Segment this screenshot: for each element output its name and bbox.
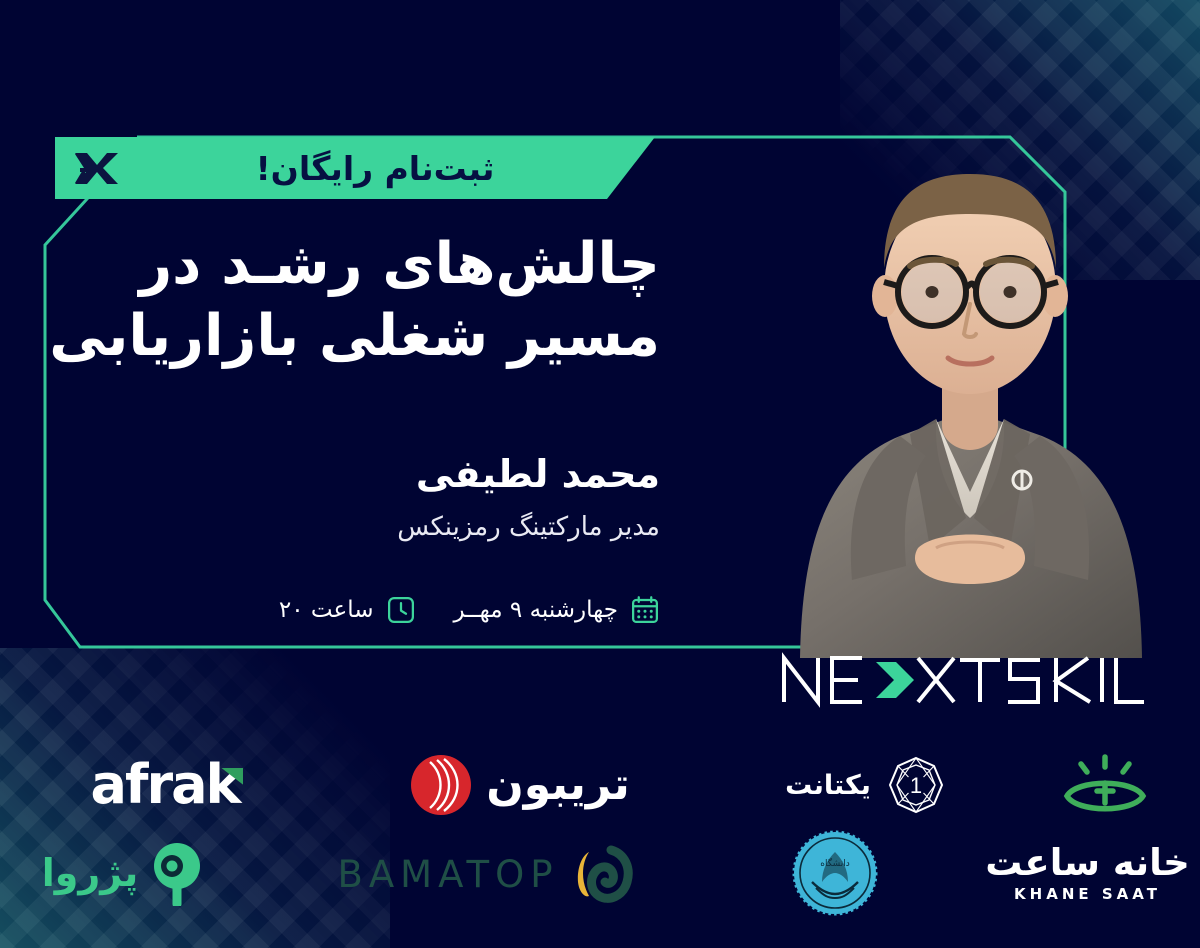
free-registration-banner: ثبت‌نام رایگان! <box>55 137 655 199</box>
clock-icon <box>386 595 416 625</box>
event-date: چهارشنبه ۹ مهــر <box>454 595 661 625</box>
bamatop-mark-icon <box>575 842 633 906</box>
sponsor-logo-bamatop: BAMATOP <box>330 835 640 913</box>
sponsor-bamatop-label: BAMATOP <box>337 856 558 893</box>
yektanet-badge-number: 1 <box>910 773 922 798</box>
webinar-poster: ثبت‌نام رایگان! چالش‌های رشـد در مسیر شغ… <box>0 0 1200 948</box>
nextskill-logo <box>778 648 1148 710</box>
pazhva-mark-icon <box>146 840 208 906</box>
event-time-label: ساعت ۲۰ <box>279 597 374 623</box>
sponsor-logo-grid: afrak تریبون یکتانت <box>0 735 1200 948</box>
sponsor-khanesaat-subtitle: KHANE SAAT <box>1014 887 1161 902</box>
speaker-portrait-illustration <box>760 78 1180 658</box>
sponsor-pazhva-label: پژروا <box>42 854 138 892</box>
sponsor-logo-tribune: تریبون <box>390 745 650 825</box>
page-title: چالش‌های رشـد در مسیر شغلی بازاریابی <box>40 228 660 373</box>
nextskill-chevron-icon <box>876 662 914 698</box>
headline-line-2: مسیر شغلی بازاریابی <box>40 300 660 372</box>
sponsor-logo-khane-saat: خانه ساعت KHANE SAAT <box>1000 827 1175 919</box>
sponsor-logo-afrak: afrak <box>40 745 290 825</box>
sponsor-logo-university-of-tehran: دانشگاه <box>780 827 890 919</box>
event-time: ساعت ۲۰ <box>279 595 416 625</box>
banner-label: ثبت‌نام رایگان! <box>55 137 655 199</box>
sponsor-tribune-label: تریبون <box>486 763 630 807</box>
speaker-photo <box>760 78 1180 658</box>
yektanet-octagon-icon: 1 <box>887 756 945 814</box>
x-logo-icon <box>73 151 119 185</box>
sponsor-afrak-label: afrak <box>91 758 240 812</box>
headline-line-1: چالش‌های رشـد در <box>40 228 660 300</box>
sponsor-logo-yektanet: یکتانت 1 <box>770 747 960 823</box>
tribune-mark-icon <box>410 754 472 816</box>
speaker-role: مدیر مارکتینگ رمزینکس <box>40 512 660 542</box>
event-meta-row: چهارشنبه ۹ مهــر ساعت ۲۰ <box>40 595 660 625</box>
x-logo-badge <box>55 137 137 199</box>
university-of-tehran-seal-icon: دانشگاه <box>792 830 878 916</box>
speaker-name: محمد لطیفی <box>40 452 660 496</box>
svg-text:دانشگاه: دانشگاه <box>820 857 849 869</box>
sponsor-khanesaat-label: خانه ساعت <box>985 844 1190 881</box>
event-date-label: چهارشنبه ۹ مهــر <box>454 597 619 623</box>
sponsor-logo-eye <box>1050 747 1160 823</box>
sponsor-yektanet-label: یکتانت <box>785 772 871 799</box>
calendar-icon <box>630 595 660 625</box>
sponsor-logo-pazhva: پژروا <box>20 830 230 916</box>
eye-logo-icon <box>1057 751 1153 819</box>
